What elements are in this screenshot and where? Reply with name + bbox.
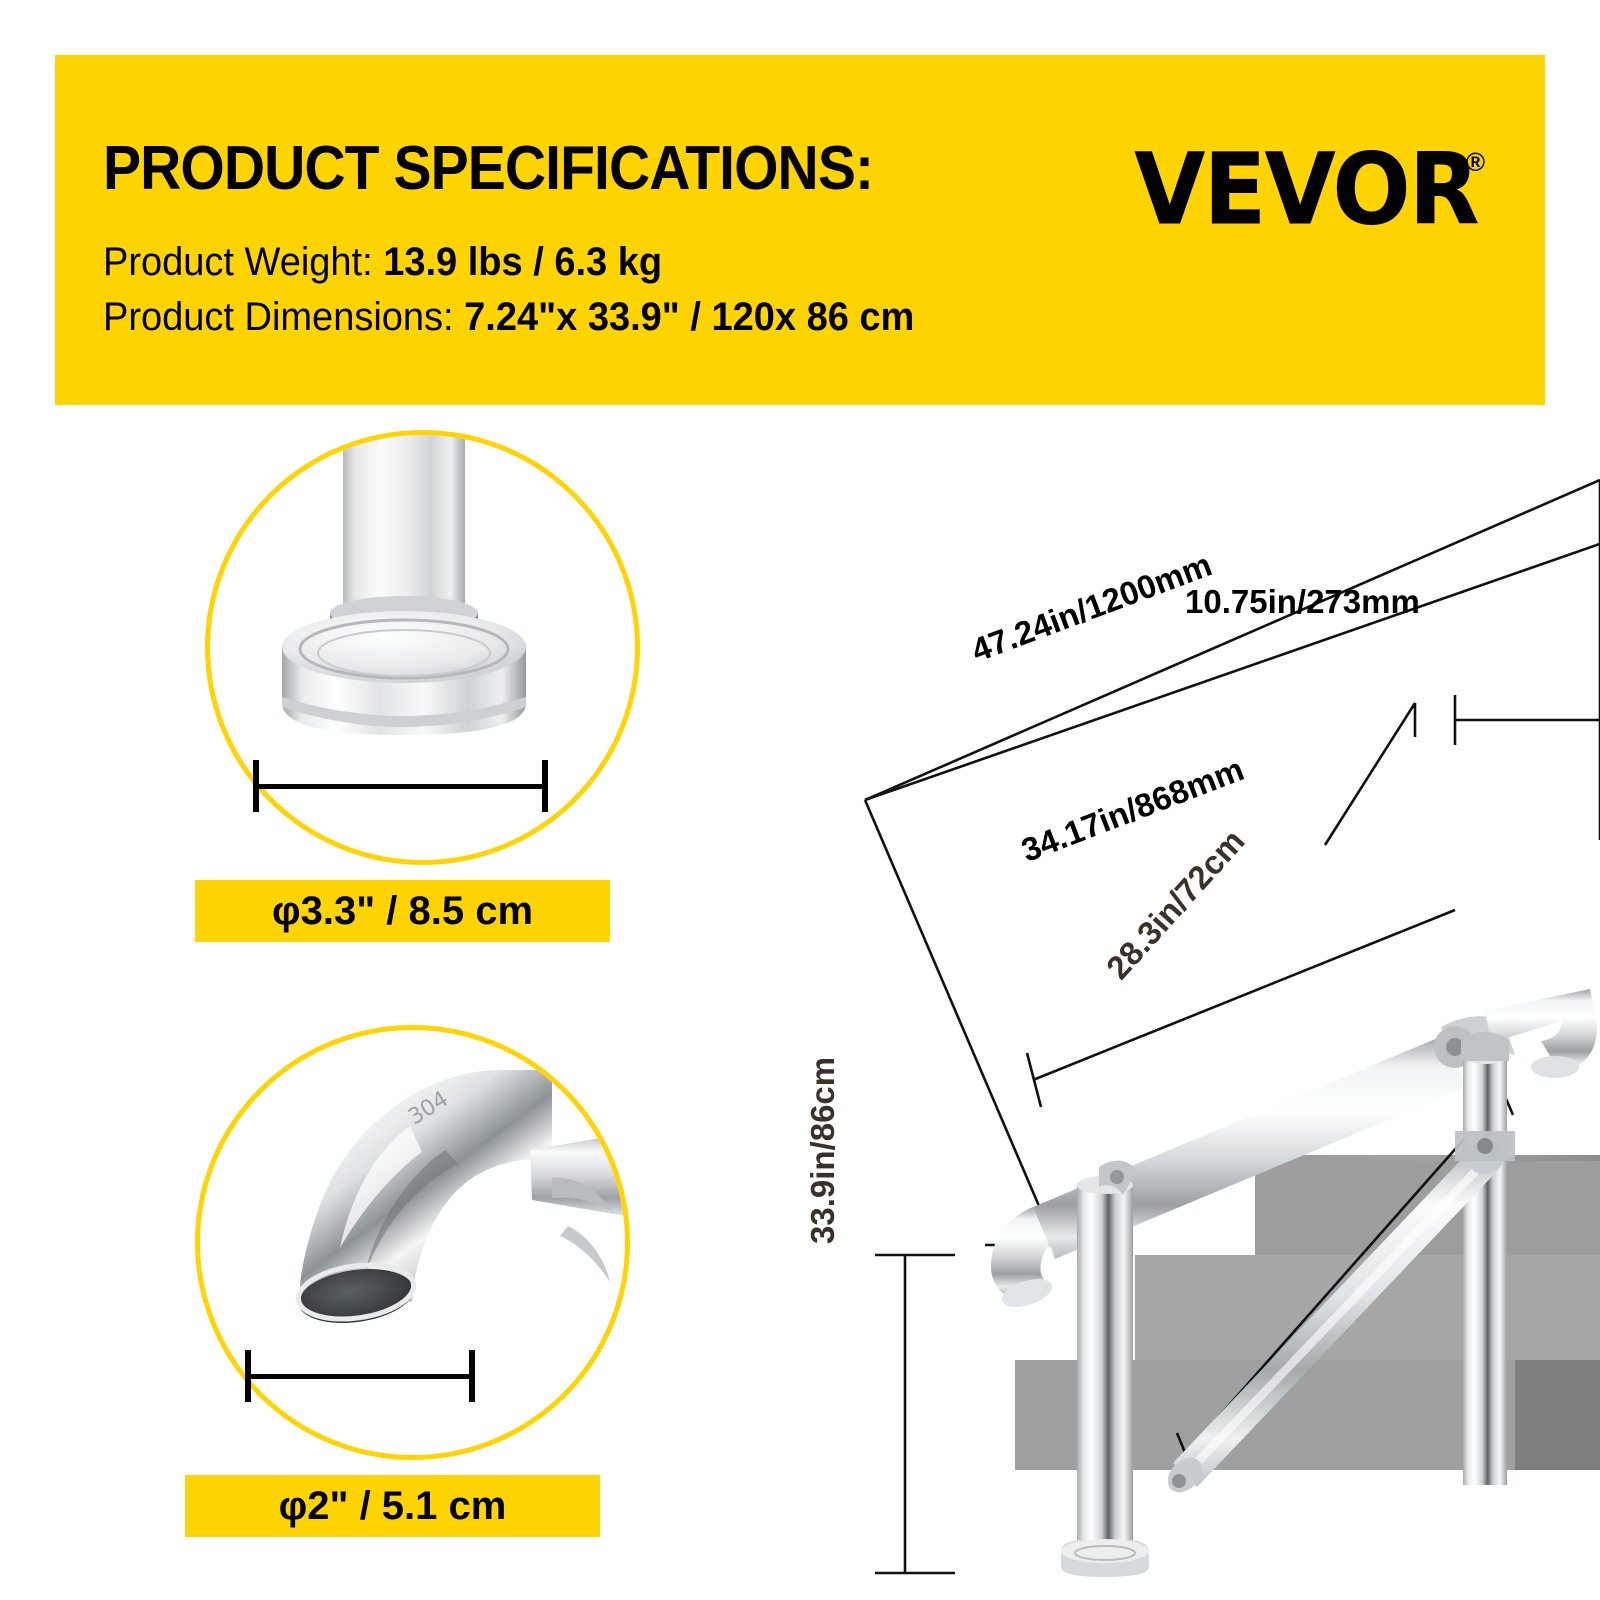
dim-label-post-height: 33.9in/86cm [804,1057,842,1244]
handrail-illustration [855,455,1600,1600]
spec-dimensions-value: 7.24"x 33.9" / 120x 86 cm [464,295,914,339]
tube-diameter-badge: φ2" / 5.1 cm [185,1475,600,1537]
dim-label-top-horizontal: 10.75in/273mm [1185,583,1420,621]
vevor-logo-text: VEVOR [1134,145,1478,234]
vevor-logo: VEVOR ® [1134,145,1485,224]
elbow-measure-bar [245,1350,475,1402]
spec-header-banner: PRODUCT SPECIFICATIONS: Product Weight: … [55,55,1545,405]
product-spec-page: PRODUCT SPECIFICATIONS: Product Weight: … [0,0,1600,1600]
height-dimension-line [875,1255,955,1573]
spec-weight-label: Product Weight: [103,240,373,284]
spec-dimensions-row: Product Dimensions: 7.24"x 33.9" / 120x … [103,295,914,340]
page-title: PRODUCT SPECIFICATIONS: [103,133,873,204]
spec-weight-value: 13.9 lbs / 6.3 kg [383,240,662,284]
flange-measure-bar [253,760,548,812]
flange-diameter-badge: φ3.3" / 8.5 cm [195,880,610,942]
handrail-dimension-diagram: 47.24in/1200mm 10.75in/273mm 34.17in/868… [855,455,1600,1600]
callout-flange: 304 φ3.3" / 8.5 cm [195,425,665,955]
spec-dimensions-label: Product Dimensions: [103,295,454,339]
callout-elbow: 304 φ2" / 5.1 cm [185,1020,675,1550]
spec-weight-row: Product Weight: 13.9 lbs / 6.3 kg [103,240,662,285]
